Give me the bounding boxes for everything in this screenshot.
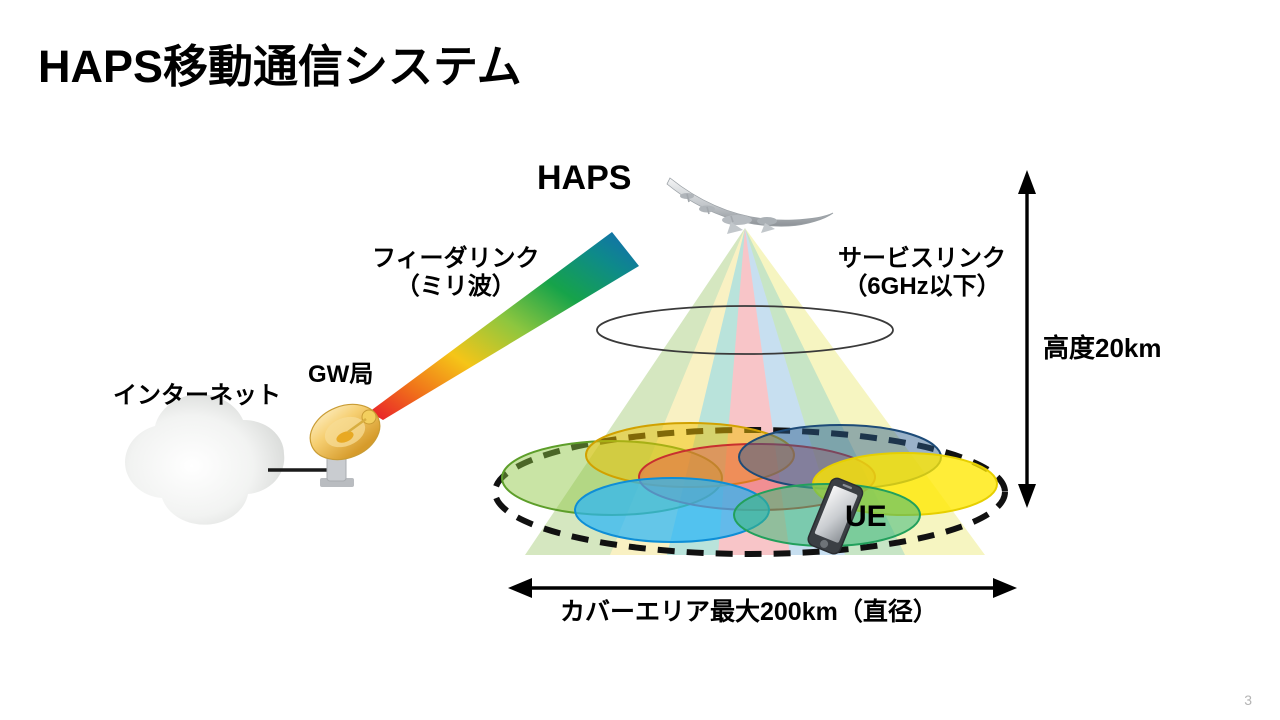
label-haps: HAPS: [537, 158, 631, 198]
coverage-double-arrow: [508, 578, 1017, 598]
label-gw-station: GW局: [308, 361, 373, 389]
label-service-line2: （6GHz以下）: [838, 273, 1006, 301]
altitude-double-arrow: [1018, 170, 1036, 508]
label-feeder-line2: （ミリ波）: [372, 273, 540, 301]
label-feeder-line1: フィーダリンク: [372, 245, 540, 273]
page-number: 3: [1244, 692, 1252, 708]
label-internet: インターネット: [113, 382, 281, 410]
label-service-line1: サービスリンク: [838, 245, 1006, 273]
slide-canvas: HAPS移動通信システム HAPS フィーダリンク （ミリ波） サービスリンク …: [0, 0, 1280, 720]
label-ue: UE: [845, 500, 887, 534]
page-title: HAPS移動通信システム: [38, 30, 522, 95]
label-coverage-area: カバーエリア最大200km（直径）: [560, 598, 938, 628]
label-altitude: 高度20km: [1043, 333, 1162, 364]
label-feeder-link: フィーダリンク （ミリ波）: [372, 245, 540, 302]
label-service-link: サービスリンク （6GHz以下）: [838, 245, 1006, 302]
